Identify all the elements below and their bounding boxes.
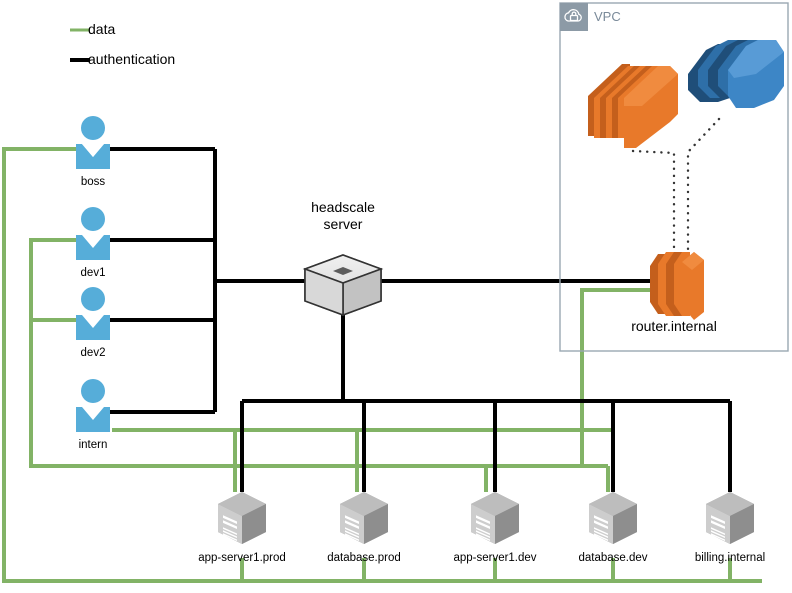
cube-server-icon bbox=[305, 255, 381, 315]
user-label-dev1: dev1 bbox=[81, 266, 106, 280]
user-label-intern: intern bbox=[79, 438, 108, 452]
wire-router-data bbox=[582, 290, 663, 466]
server-label-billing-internal: billing.internal bbox=[695, 551, 765, 565]
network-diagram-canvas: data authentication boss dev1 dev2 inter… bbox=[0, 0, 792, 593]
server-label-database-prod: database.prod bbox=[327, 551, 401, 565]
server-icon-billing-internal[interactable] bbox=[706, 492, 754, 544]
server-icon-database-dev[interactable] bbox=[589, 492, 637, 544]
user-icon-intern[interactable] bbox=[76, 379, 110, 432]
connection-wires bbox=[0, 0, 792, 593]
aws-ec2-stack-icon bbox=[588, 64, 678, 148]
server-label-database-dev: database.dev bbox=[578, 551, 647, 565]
user-label-boss: boss bbox=[81, 175, 105, 189]
server-label-app-server1-dev: app-server1.dev bbox=[453, 551, 536, 565]
legend-label-data: data bbox=[88, 21, 115, 37]
user-icon-dev1[interactable] bbox=[76, 207, 110, 260]
aws-router-icon bbox=[650, 252, 704, 320]
aws-db-stack-icon bbox=[688, 40, 784, 108]
vpc-node-label-router: router.internal bbox=[631, 318, 717, 335]
headscale-label-line1: headscale bbox=[311, 199, 375, 216]
user-label-dev2: dev2 bbox=[81, 346, 106, 360]
server-icon-database-prod[interactable] bbox=[340, 492, 388, 544]
server-icon-app-server1-prod[interactable] bbox=[218, 492, 266, 544]
server-icons-group bbox=[218, 492, 754, 544]
user-icon-dev2[interactable] bbox=[76, 287, 110, 340]
legend-swatches bbox=[70, 30, 90, 60]
dotted-ec2-to-router bbox=[633, 151, 674, 250]
vpc-label: VPC bbox=[594, 9, 621, 24]
legend-label-authentication: authentication bbox=[88, 51, 175, 67]
headscale-label-line2: server bbox=[324, 216, 363, 233]
user-icon-boss[interactable] bbox=[76, 116, 110, 169]
server-icon-app-server1-dev[interactable] bbox=[471, 492, 519, 544]
server-label-app-server1-prod: app-server1.prod bbox=[198, 551, 286, 565]
dotted-db-to-router bbox=[688, 119, 719, 250]
